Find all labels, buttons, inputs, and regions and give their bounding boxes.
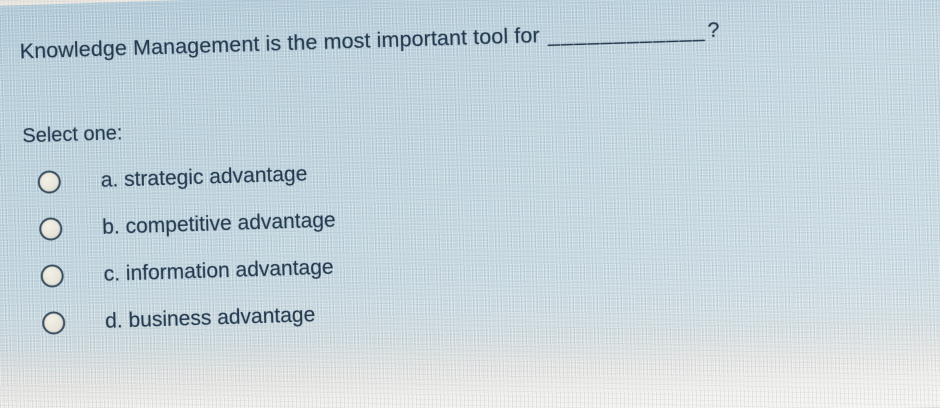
select-one-label: Select one: (22, 122, 123, 148)
radio-button-d-icon[interactable] (42, 311, 66, 335)
question-blank: ____________ (547, 18, 706, 47)
radio-button-a-icon[interactable] (37, 170, 61, 194)
quiz-content: Knowledge Management is the most importa… (0, 0, 940, 408)
question-prefix: Knowledge Management is the most importa… (19, 23, 540, 63)
answer-options-list: a. strategic advantage b. competitive ad… (23, 140, 649, 347)
question-text: Knowledge Management is the most importa… (19, 18, 720, 65)
screen-photo: Knowledge Management is the most importa… (0, 0, 940, 408)
radio-button-b-icon[interactable] (39, 217, 63, 241)
question-suffix: ? (707, 18, 720, 42)
option-label-b[interactable]: b. competitive advantage (102, 208, 336, 239)
option-label-c[interactable]: c. information advantage (103, 255, 334, 286)
option-label-d[interactable]: d. business advantage (105, 303, 316, 334)
option-label-a[interactable]: a. strategic advantage (100, 162, 307, 192)
radio-button-c-icon[interactable] (40, 264, 64, 288)
